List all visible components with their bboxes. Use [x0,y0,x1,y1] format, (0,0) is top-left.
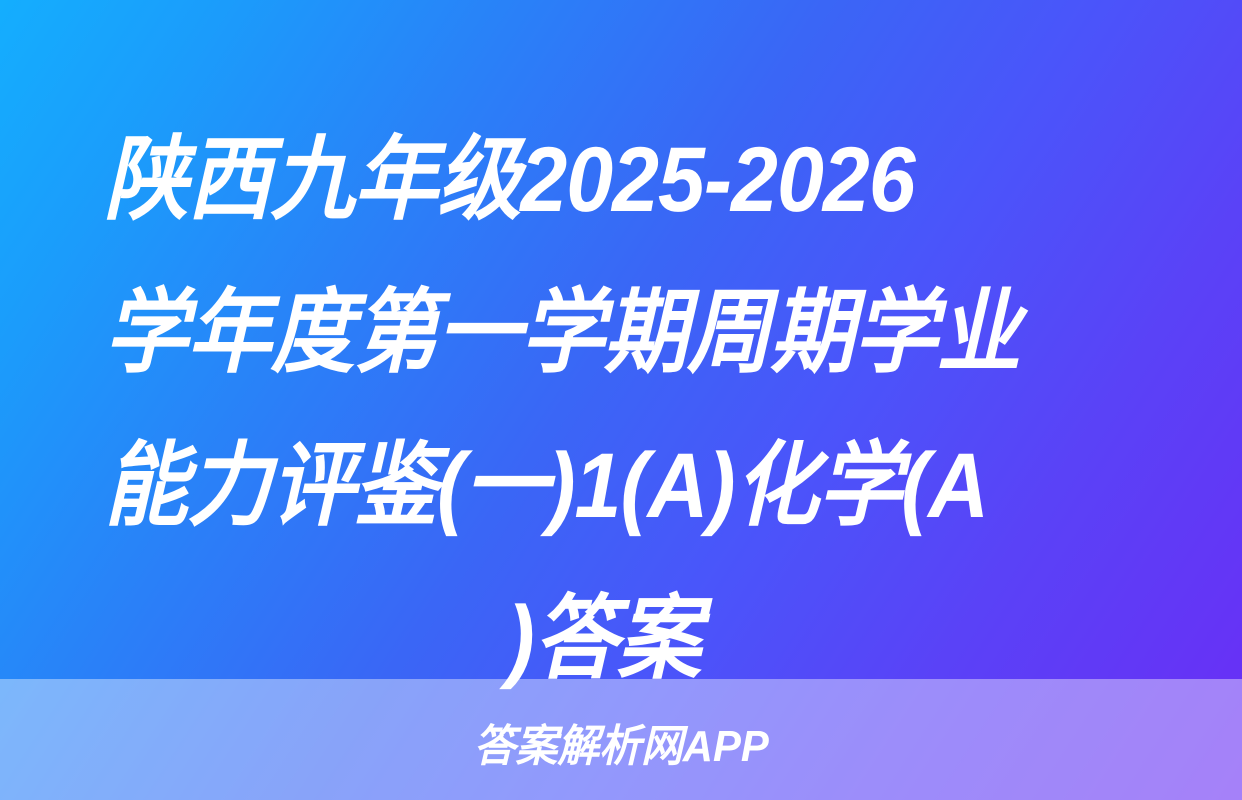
page-title: 陕西九年级2025-2026 学年度第一学期周期学业 能力评鉴(一)1(A)化学… [104,104,1149,716]
footer-bar: 答案解析网APP [0,679,1242,800]
title-line-3: 能力评鉴(一)1(A)化学(A [104,410,1060,563]
title-line-1: 陕西九年级2025-2026 [104,104,1060,257]
title-line-2: 学年度第一学期周期学业 [104,257,1060,410]
poster-card: 陕西九年级2025-2026 学年度第一学期周期学业 能力评鉴(一)1(A)化学… [0,0,1242,800]
app-name-label: 答案解析网APP [474,710,769,774]
